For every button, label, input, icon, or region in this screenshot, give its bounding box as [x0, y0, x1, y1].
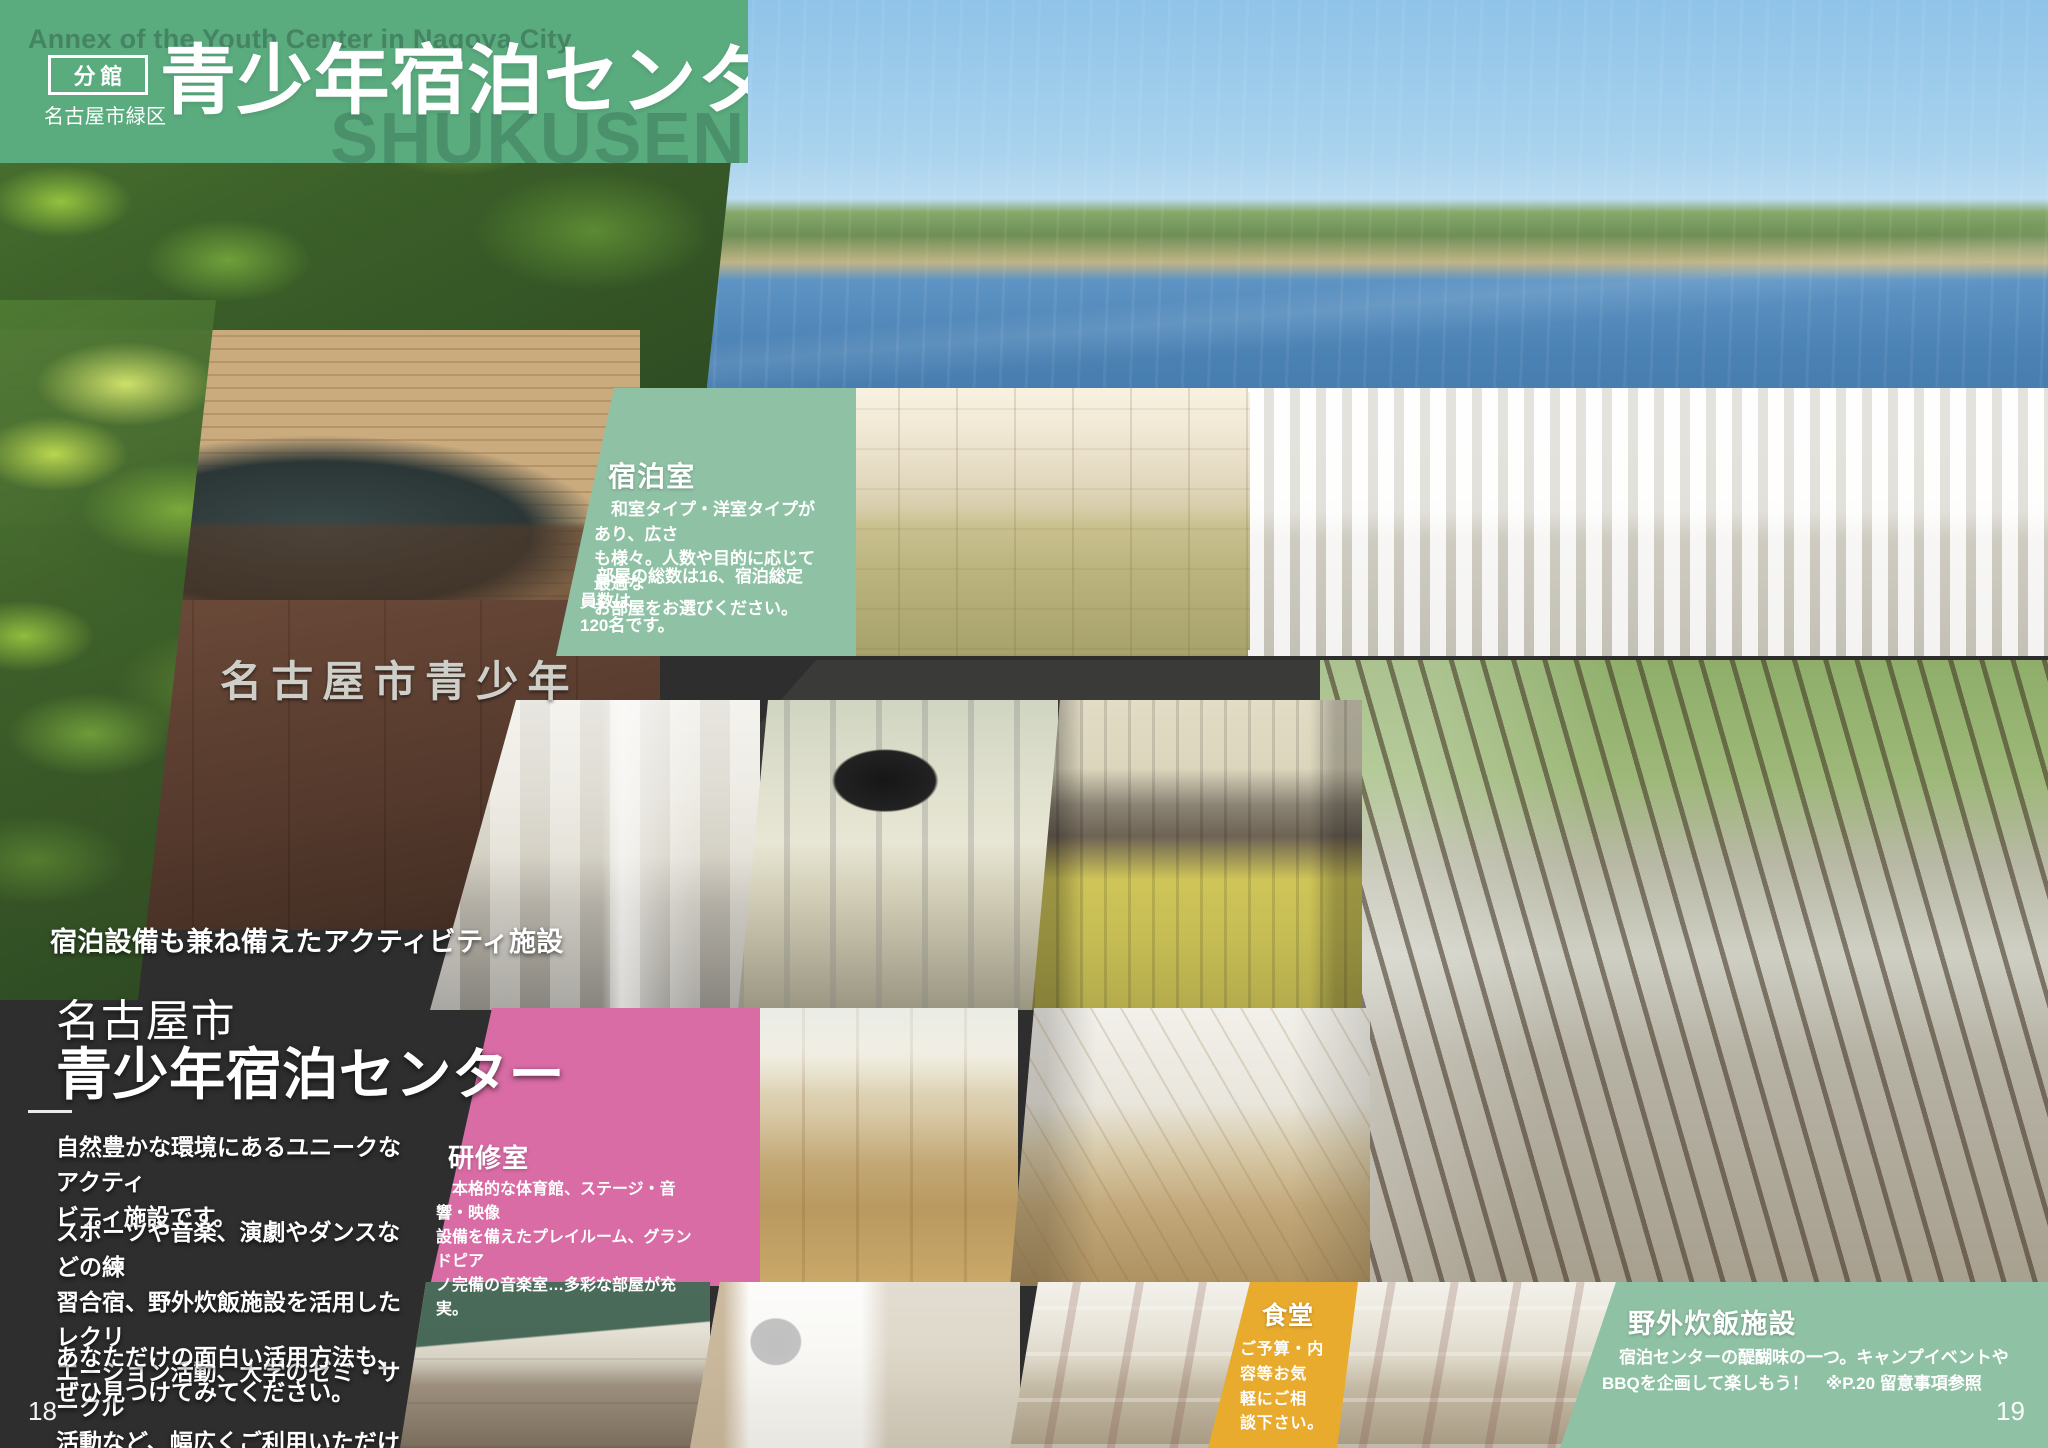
- header-block: SHUKUSEN Annex of the Youth Center in Na…: [0, 0, 748, 163]
- photo-tatami-room-wide: [840, 392, 1250, 650]
- panel-training-title: 研修室: [448, 1138, 529, 1175]
- building-sign-text: 名古屋市青少年: [220, 648, 620, 709]
- annex-badge: 分館: [48, 55, 148, 95]
- panel-lodging-title: 宿泊室: [608, 455, 695, 495]
- panel-dining-body: ご予算・内 容等お気 軽にご相 談下さい。: [1240, 1338, 1350, 1437]
- photo-music-room: [738, 700, 1058, 1010]
- photo-outdoor-cooking: [1320, 660, 2048, 1300]
- divider-rule: [28, 1110, 72, 1113]
- lead-paragraph-3: あなただけの面白い活用方法も、 ぜひ見つけてみてください。: [56, 1340, 406, 1410]
- panel-dining-title: 食堂: [1262, 1296, 1314, 1332]
- page-number-right: 19: [1996, 1396, 2025, 1427]
- left-subheadline: 宿泊設備も兼ね備えたアクティビティ施設: [50, 920, 564, 959]
- panel-lodging-body-2: 部屋の総数は16、宿泊総定員数は 120名です。: [580, 565, 810, 639]
- ward-label: 名古屋市緑区: [44, 100, 166, 129]
- photo-lake: [700, 0, 2048, 452]
- page-title: 青少年宿泊センター: [160, 44, 851, 120]
- panel-outdoor-cooking-body: 宿泊センターの醍醐味の一つ。キャンプイベントや BBQを企画して楽しもう！ ※P…: [1602, 1345, 2032, 1396]
- photo-stage-hall: [1032, 700, 1362, 1010]
- panel-outdoor-cooking-title: 野外炊飯施設: [1628, 1302, 1796, 1341]
- lead-paragraph-2: スポーツや音楽、演劇やダンスなどの練 習合宿、野外炊飯施設を活用したレクリ エー…: [56, 1215, 406, 1448]
- photo-playroom: [1010, 1008, 1370, 1286]
- brochure-spread: SHUKUSEN Annex of the Youth Center in Na…: [0, 0, 2048, 1448]
- photo-av-room: [690, 1282, 1020, 1448]
- panel-training-body: 本格的な体育館、ステージ・音響・映像 設備を備えたプレイルーム、グランドピア ノ…: [436, 1178, 696, 1322]
- center-name-large: 青少年宿泊センター: [56, 1030, 565, 1111]
- photo-bedroom: [1248, 388, 2048, 656]
- page-number-left: 18: [28, 1396, 57, 1427]
